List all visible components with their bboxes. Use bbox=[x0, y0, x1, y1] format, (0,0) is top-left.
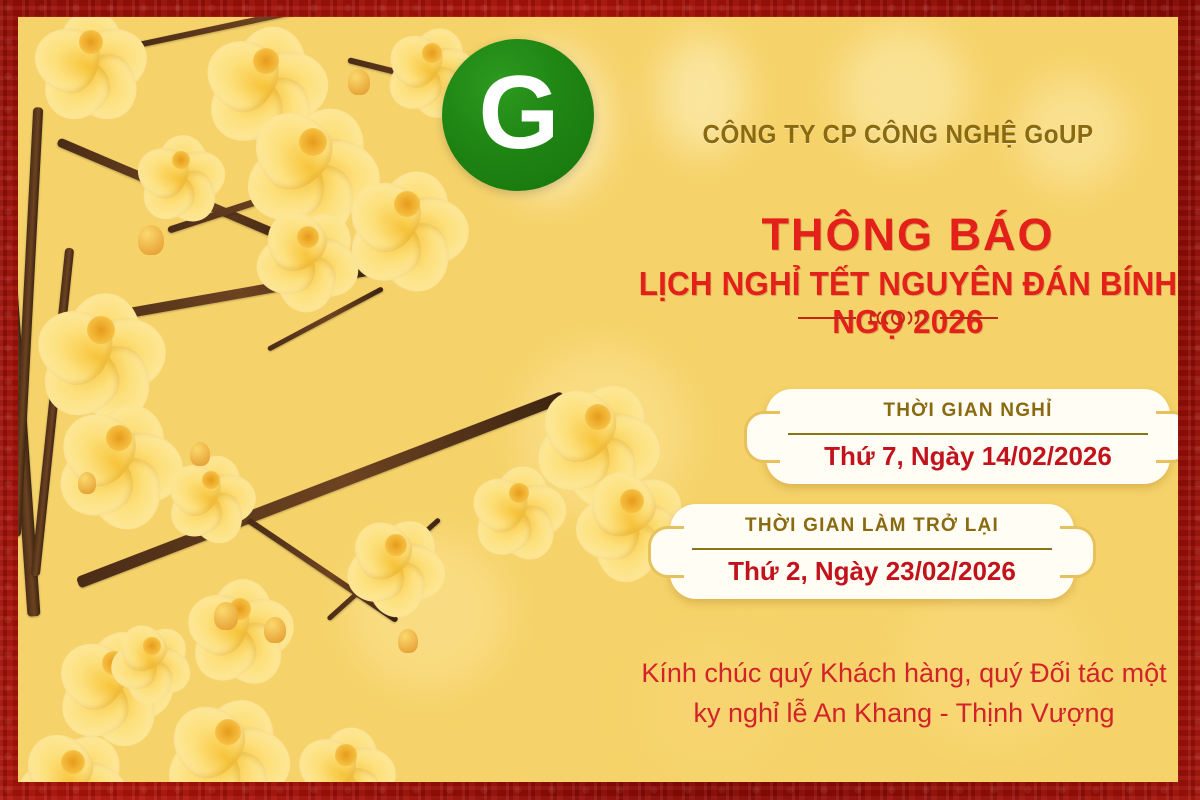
blossom bbox=[188, 557, 292, 661]
card-rule bbox=[692, 548, 1052, 550]
blossom bbox=[138, 117, 224, 203]
blossom bbox=[38, 267, 164, 393]
closing-wish: Kính chúc quý Khách hàng, quý Đối tác mộ… bbox=[614, 653, 1178, 733]
flower-bud bbox=[138, 225, 164, 255]
ornamental-divider bbox=[798, 309, 998, 327]
holiday-start-card: THỜI GIAN NGHỈ Thứ 7, Ngày 14/02/2026 bbox=[766, 389, 1170, 484]
blossom bbox=[18, 707, 128, 782]
blossom bbox=[168, 672, 288, 782]
blossom bbox=[58, 377, 180, 499]
blossom bbox=[168, 437, 254, 523]
page-subtitle: LỊCH NGHỈ TẾT NGUYÊN ĐÁN BÍNH NGỌ 2026 bbox=[625, 265, 1178, 341]
poster-canvas: G CÔNG TY CP CÔNG NGHỆ GoUP THÔNG BÁO LỊ… bbox=[18, 17, 1178, 782]
divider-line-right bbox=[940, 317, 998, 319]
blossom bbox=[36, 17, 146, 97]
card-title: THỜI GIAN LÀM TRỞ LẠI bbox=[670, 515, 1074, 537]
blossom bbox=[473, 447, 565, 539]
blossom bbox=[298, 707, 394, 782]
card-value: Thứ 2, Ngày 23/02/2026 bbox=[670, 556, 1074, 587]
flower-bud bbox=[264, 617, 286, 643]
tet-holiday-announcement-poster: G CÔNG TY CP CÔNG NGHỆ GoUP THÔNG BÁO LỊ… bbox=[0, 0, 1200, 800]
blossom bbox=[258, 187, 358, 287]
card-title: THỜI GIAN NGHỈ bbox=[766, 400, 1170, 422]
blossom bbox=[113, 607, 191, 685]
flower-bud bbox=[190, 442, 210, 466]
card-value: Thứ 7, Ngày 14/02/2026 bbox=[766, 441, 1170, 472]
flower-bud bbox=[214, 602, 238, 630]
blossom bbox=[348, 497, 444, 593]
card-rule bbox=[788, 433, 1148, 435]
blossom bbox=[348, 145, 466, 263]
company-name: CÔNG TY CP CÔNG NGHỆ GoUP bbox=[638, 119, 1159, 150]
page-title: THÔNG BÁO bbox=[618, 209, 1178, 261]
divider-line-left bbox=[798, 317, 856, 319]
closing-wish-line-2: ky nghỉ lễ An Khang - Thịnh Vượng bbox=[614, 693, 1178, 733]
goup-logo[interactable]: G bbox=[442, 39, 594, 191]
flower-bud bbox=[398, 629, 418, 653]
closing-wish-line-1: Kính chúc quý Khách hàng, quý Đối tác mộ… bbox=[614, 653, 1178, 693]
logo-letter: G bbox=[479, 61, 558, 165]
flower-bud bbox=[348, 69, 370, 95]
divider-ornament-icon bbox=[860, 310, 936, 326]
flower-bud bbox=[78, 472, 96, 494]
return-to-work-card: THỜI GIAN LÀM TRỞ LẠI Thứ 2, Ngày 23/02/… bbox=[670, 504, 1074, 599]
